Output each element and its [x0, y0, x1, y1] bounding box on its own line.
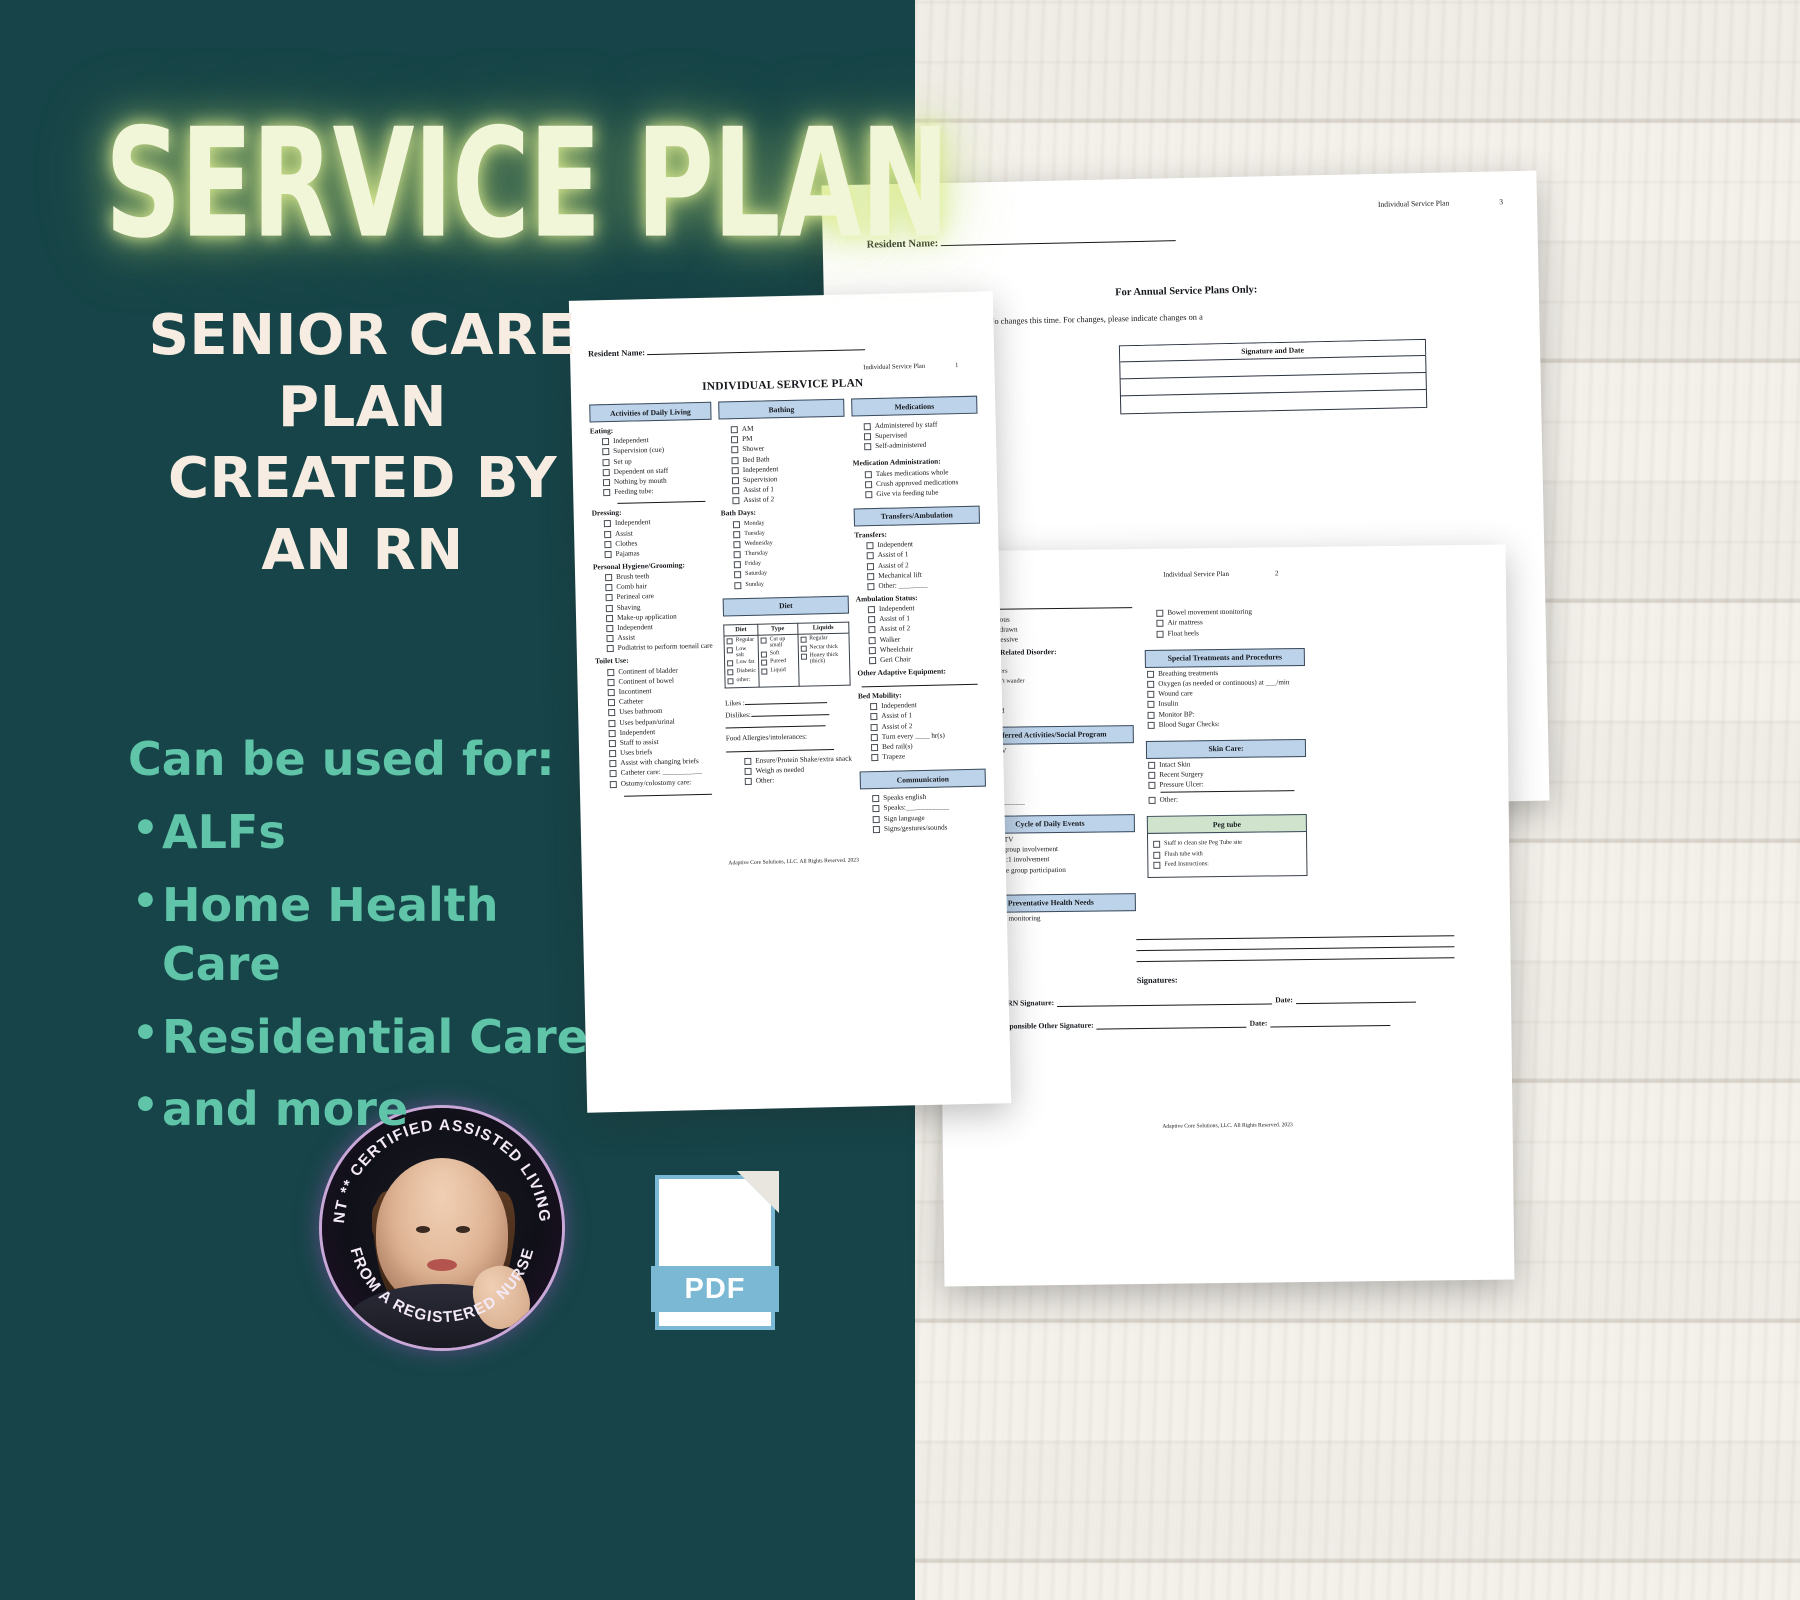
list-item[interactable]: Recent Surgery	[1146, 769, 1306, 779]
list-item-label: Breathing treatments	[1158, 669, 1218, 678]
date-label: Date:	[1250, 1018, 1268, 1027]
checkbox[interactable]	[606, 635, 613, 642]
list-item[interactable]: Blood Sugar Checks:	[1146, 719, 1306, 729]
list-item[interactable]: Wound care	[1145, 688, 1305, 698]
checkbox[interactable]	[867, 573, 874, 580]
list-item[interactable]: Other:	[1147, 794, 1307, 804]
list-item-label: Air mattress	[1167, 619, 1202, 627]
list-item[interactable]: Low fat	[727, 659, 756, 667]
checkbox[interactable]	[734, 561, 741, 568]
list-item[interactable]: Bed Bath	[719, 453, 845, 464]
list-item[interactable]: Walker	[857, 633, 983, 644]
list-item-label: Independent	[879, 604, 915, 613]
checkbox[interactable]	[868, 606, 875, 613]
checkbox[interactable]	[727, 669, 733, 675]
adaptive-equipment-label: Other Adaptive Equipment:	[857, 666, 983, 678]
list-item[interactable]: Assist of 2	[720, 494, 846, 505]
list-item-label: Continent of bladder	[618, 666, 678, 675]
checkbox[interactable]	[606, 594, 613, 601]
checkbox[interactable]	[761, 660, 767, 666]
checkbox[interactable]	[868, 626, 875, 633]
use-cases-block: Can be used for: ALFs Home Health Care R…	[128, 730, 628, 1139]
checkbox[interactable]	[608, 709, 615, 716]
list-item[interactable]: Other:	[727, 775, 853, 786]
use-cases-heading: Can be used for:	[128, 730, 628, 789]
checkbox[interactable]	[731, 426, 738, 433]
list-item[interactable]: Other: ________	[855, 580, 981, 591]
list-item[interactable]: Bed rail(s)	[859, 741, 985, 752]
list-item[interactable]: Independent	[594, 622, 716, 633]
list-item-label: other:	[736, 676, 750, 682]
list-item[interactable]: Mechanical lift	[855, 569, 981, 580]
badge-ring-text: ** CONSULTANT ** CERTIFIED ASSISTED LIVI…	[322, 1108, 562, 1348]
list-item-label: Thursday	[745, 550, 769, 558]
subtitle-line-2: PLAN	[90, 372, 635, 444]
list-item-label: Independent	[881, 701, 917, 710]
checkbox[interactable]	[1147, 701, 1154, 708]
checkbox[interactable]	[867, 552, 874, 559]
ambulation-label: Ambulation Status:	[856, 592, 982, 604]
list-item-label: Uses bathroom	[619, 707, 662, 716]
checkbox[interactable]	[1153, 851, 1160, 858]
list-item[interactable]: Diabetic	[727, 668, 756, 676]
food-allergies-input[interactable]	[726, 749, 834, 752]
list-item[interactable]: Self-administered	[852, 440, 978, 451]
checkbox[interactable]	[873, 815, 880, 822]
list-item[interactable]: Uses bedpan/urinal	[596, 716, 718, 727]
list-item-label: Self-administered	[875, 441, 926, 450]
list-item-label: Assist with changing briefs	[620, 757, 699, 767]
list-item-label: Crush approved medications	[876, 478, 958, 488]
list-item[interactable]: Perineal care	[593, 591, 715, 602]
list-item[interactable]: Honey thick (thick)	[801, 652, 848, 665]
list-item-label: Perineal care	[616, 592, 653, 601]
list-item[interactable]: Independent	[856, 603, 982, 614]
checkbox[interactable]	[800, 645, 806, 651]
checkbox[interactable]	[606, 625, 613, 632]
page3-page-number: 3	[1499, 197, 1503, 206]
checkbox[interactable]	[867, 583, 874, 590]
page3-header-label: Individual Service Plan	[1378, 198, 1449, 208]
checkbox[interactable]	[864, 423, 871, 430]
checkbox[interactable]	[727, 678, 733, 684]
checkbox[interactable]	[801, 654, 807, 660]
list-item[interactable]: Uses bathroom	[596, 706, 718, 717]
list-item-label: Continent of bowel	[618, 676, 674, 685]
checkbox[interactable]	[745, 778, 752, 785]
list-item-label: Diabetic	[736, 668, 756, 674]
list-item[interactable]: Friday	[722, 558, 848, 569]
column-medications: Medications Administered by staff Superv…	[851, 396, 987, 833]
list-item-label: Assist of 1	[879, 615, 910, 624]
date-label: Date:	[1275, 995, 1293, 1004]
section-header-transfers: Transfers/Ambulation	[854, 506, 980, 527]
column-bathing-diet: Bathing AM PM Shower Bed Bath Independen…	[718, 399, 854, 836]
checkbox[interactable]	[1148, 782, 1155, 789]
subtitle-line-3: CREATED BY	[90, 443, 635, 515]
list-item-label: Weigh as needed	[756, 765, 805, 774]
checkbox[interactable]	[732, 497, 739, 504]
checkbox[interactable]	[734, 551, 741, 558]
list-item-label: Flush tube with	[1164, 850, 1203, 857]
use-case-item: Residential Care	[128, 1008, 628, 1067]
list-item-label: Assist of 2	[878, 561, 909, 570]
page2-header-label: Individual Service Plan	[1163, 570, 1229, 579]
list-item-label: Speaks english	[883, 793, 926, 802]
page2-page-number: 2	[1275, 569, 1279, 577]
checkbox[interactable]	[870, 703, 877, 710]
signatures-label: Signatures:	[967, 972, 1485, 987]
list-item-label: Turn every ____ hr(s)	[882, 731, 945, 740]
list-item[interactable]: Speaks:____________	[860, 802, 986, 813]
list-item-label: Wednesday	[744, 539, 773, 547]
checkbox[interactable]	[1147, 681, 1154, 688]
list-item[interactable]: AM	[719, 423, 845, 434]
list-item[interactable]: Sign language	[861, 812, 987, 823]
list-item[interactable]: Supervised	[852, 430, 978, 441]
checkbox[interactable]	[872, 805, 879, 812]
section-header-bathing: Bathing	[718, 399, 844, 420]
table-row: Regular Low salt Low fat Diabetic other:…	[724, 633, 850, 688]
checkbox[interactable]	[865, 491, 872, 498]
list-item[interactable]: Flush tube with	[1151, 849, 1303, 859]
ostomy-blank-line[interactable]	[624, 793, 712, 796]
checkbox[interactable]	[607, 645, 614, 652]
checkbox[interactable]	[606, 605, 613, 612]
list-item-label: Catheter care: ___________	[620, 767, 702, 777]
section-header-special: Special Treatments and Procedures	[1145, 648, 1305, 668]
subtitle-line-1: SENIOR CARE	[90, 300, 635, 372]
list-item[interactable]: Assist of 2	[856, 623, 982, 634]
checkbox[interactable]	[727, 638, 733, 644]
resident-date-blank[interactable]	[1270, 1018, 1390, 1027]
list-item[interactable]: Turn every ____ hr(s)	[859, 730, 985, 741]
checkbox[interactable]	[745, 768, 752, 775]
list-item-label: Shaving	[617, 603, 641, 612]
checkbox[interactable]	[732, 477, 739, 484]
list-item[interactable]: Pressure Ulcer:	[1146, 779, 1306, 789]
list-item[interactable]: Cut up small	[761, 636, 796, 649]
adaptive-equipment-input[interactable]	[862, 684, 978, 688]
checkbox[interactable]	[871, 724, 878, 731]
list-item-label: Low fat	[736, 659, 754, 665]
section-header-communication: Communication	[860, 769, 986, 790]
list-item[interactable]: Feed Instructions:	[1151, 859, 1303, 869]
list-item[interactable]: Independent	[720, 463, 846, 474]
list-item[interactable]: Monday	[721, 517, 847, 528]
list-item[interactable]: Low salt	[727, 645, 756, 658]
checkbox[interactable]	[608, 719, 615, 726]
list-item[interactable]: Speaks english	[860, 792, 986, 803]
list-item-label: Shower	[742, 445, 764, 453]
list-item[interactable]: Geri Chair	[857, 654, 983, 665]
list-item-label: Cut up small	[770, 636, 796, 649]
checkbox[interactable]	[1149, 797, 1156, 804]
svg-text:FROM A REGISTERED NURSE: FROM A REGISTERED NURSE	[346, 1246, 537, 1326]
list-item-label: Other:	[756, 776, 775, 784]
diet-col-header: Type	[758, 623, 798, 635]
list-item-label: Make-up application	[617, 612, 677, 621]
checkbox[interactable]	[733, 521, 740, 528]
list-item-label: Monday	[744, 519, 765, 526]
list-item[interactable]: Give via feeding tube	[853, 488, 979, 499]
checkbox[interactable]	[869, 647, 876, 654]
list-item-label: Insulin	[1158, 700, 1178, 708]
list-item-label: Sunday	[745, 580, 764, 587]
checkbox[interactable]	[761, 651, 767, 657]
checkbox[interactable]	[1148, 772, 1155, 779]
list-item-label: Liquid	[770, 667, 786, 673]
list-item-label: Walker	[880, 635, 901, 643]
page3-resident-name-row: Resident Name:	[867, 226, 1504, 250]
page1-footer: Adaptive Core Solutions, LLC. All Rights…	[600, 854, 988, 869]
list-item[interactable]: Oxygen (as needed or continuous) at ___/…	[1145, 678, 1305, 688]
list-item[interactable]: Independent	[858, 700, 984, 711]
manager-signature-blank[interactable]	[1057, 996, 1272, 1007]
list-item[interactable]: Liquid	[761, 667, 796, 675]
list-item-label: Incontinent	[619, 687, 652, 696]
checkbox[interactable]	[871, 754, 878, 761]
likes-label: Likes :	[725, 699, 745, 707]
list-item-label: Catheter	[619, 697, 644, 706]
list-item[interactable]: Saturday	[722, 568, 848, 579]
list-item-label: Takes medications whole	[876, 468, 949, 478]
list-item-label: Regular	[736, 637, 754, 643]
section-header-medications: Medications	[851, 396, 977, 417]
bath-days-label: Bath Days:	[721, 506, 847, 518]
checkbox[interactable]	[1156, 620, 1163, 627]
list-item-label: Uses bedpan/urinal	[619, 717, 674, 726]
list-item-label: Honey thick (thick)	[810, 652, 848, 665]
list-item[interactable]: Monitor BP:	[1145, 709, 1305, 719]
checkbox[interactable]	[1148, 722, 1155, 729]
pdf-file-icon[interactable]: PDF	[655, 1175, 775, 1330]
checkbox[interactable]	[727, 647, 733, 653]
list-item-label: Supervision	[743, 475, 778, 484]
list-item-label: Staff to clean site Peg Tube site	[1164, 839, 1242, 847]
list-item[interactable]: Podiatrist to perform toenail care	[595, 642, 717, 653]
list-item[interactable]: Assist of 1	[856, 613, 982, 624]
checkbox[interactable]	[1153, 862, 1160, 869]
list-item-label: Podiatrist to perform toenail care	[618, 642, 713, 652]
list-item[interactable]: Regular	[727, 637, 756, 645]
checkbox[interactable]	[866, 542, 873, 549]
list-item-label: Speaks:____________	[883, 803, 949, 812]
checkbox[interactable]	[869, 637, 876, 644]
list-item-label: Give via feeding tube	[876, 489, 938, 498]
list-item-label: Bed rail(s)	[882, 742, 913, 751]
list-item[interactable]: Assist of 2	[855, 559, 981, 570]
list-item-label: Independent	[743, 465, 779, 474]
list-item-label: Ensure/Protein Shake/extra snack	[755, 754, 852, 764]
list-item-label: Trapeze	[882, 753, 905, 762]
list-item-label: Assist	[617, 634, 635, 642]
list-item-label: Other: ________	[878, 581, 927, 590]
checkbox[interactable]	[607, 679, 614, 686]
manager-date-blank[interactable]	[1296, 995, 1416, 1004]
list-item-label: Low salt	[736, 645, 756, 657]
likes-input[interactable]	[745, 695, 827, 705]
list-item[interactable]: Crush approved medications	[853, 477, 979, 488]
list-item[interactable]: Bowel movement monitoring	[1144, 607, 1304, 617]
list-item-label: Pressure Ulcer:	[1159, 781, 1203, 790]
list-item-label: Assist of 1	[878, 551, 909, 560]
checkbox[interactable]	[608, 689, 615, 696]
list-item[interactable]: Shaving	[594, 601, 716, 612]
section-header-pegtube: Peg tube	[1147, 814, 1307, 834]
list-item-label: Nectar thick	[809, 644, 838, 651]
list-item[interactable]: Supervision	[720, 474, 846, 485]
list-item[interactable]: Tuesday	[721, 527, 847, 538]
list-item[interactable]: Thursday	[722, 548, 848, 559]
list-item-label: Oxygen (as needed or continuous) at ___/…	[1158, 678, 1289, 688]
list-item[interactable]: Administered by staff	[852, 420, 978, 431]
list-item[interactable]: Trapeze	[859, 751, 985, 762]
checkbox[interactable]	[873, 826, 880, 833]
use-case-item: ALFs	[128, 803, 628, 862]
list-item-label: Tuesday	[744, 529, 765, 536]
transfers-label: Transfers:	[854, 528, 980, 540]
checkbox[interactable]	[608, 699, 615, 706]
checkbox[interactable]	[1153, 841, 1160, 848]
list-item[interactable]: Sunday	[722, 578, 848, 589]
resident-name-input[interactable]	[647, 342, 865, 355]
list-item[interactable]: Continent of bowel	[595, 675, 717, 686]
checkbox[interactable]	[727, 661, 733, 667]
checkbox[interactable]	[868, 616, 875, 623]
list-item-label: Feed Instructions:	[1164, 860, 1209, 868]
checkbox[interactable]	[871, 734, 878, 741]
checkbox[interactable]	[733, 531, 740, 538]
checkbox[interactable]	[744, 757, 751, 764]
checkbox[interactable]	[864, 443, 871, 450]
list-item[interactable]: Continent of bladder	[595, 665, 717, 676]
list-item[interactable]: Incontinent	[596, 686, 718, 697]
checkbox[interactable]	[867, 563, 874, 570]
list-item[interactable]: other:	[727, 676, 756, 684]
list-item-label: Assist of 1	[743, 485, 774, 494]
list-item[interactable]: Pureed	[761, 658, 796, 666]
list-item[interactable]: Assist of 1	[720, 484, 846, 495]
list-item[interactable]: Assist of 1	[855, 549, 981, 560]
list-item[interactable]: Wednesday	[721, 538, 847, 549]
list-item-label: Friday	[745, 560, 761, 567]
document-page-2: Individual Service Plan 2 Anxious Withdr…	[936, 545, 1515, 1287]
list-item-label: AM	[742, 425, 754, 433]
promo-subtitle: SENIOR CARE PLAN CREATED BY AN RN	[90, 300, 635, 587]
nurse-credential-badge: ** CONSULTANT ** CERTIFIED ASSISTED LIVI…	[322, 1108, 562, 1348]
checkbox[interactable]	[871, 744, 878, 751]
list-item-label: PM	[742, 435, 753, 443]
checkbox[interactable]	[607, 669, 614, 676]
dislikes-input[interactable]	[751, 707, 829, 717]
list-item[interactable]: Soft	[761, 650, 796, 658]
checkbox[interactable]	[869, 657, 876, 664]
use-case-item: Home Health Care	[128, 876, 628, 994]
checkbox[interactable]	[734, 582, 741, 589]
list-item[interactable]: Assist of 1	[858, 710, 984, 721]
checkbox[interactable]	[865, 471, 872, 478]
promo-panel-foot	[0, 1385, 915, 1600]
checkbox[interactable]	[1148, 762, 1155, 769]
list-item[interactable]: Assist of 2	[859, 720, 985, 731]
page3-resident-name-blank[interactable]	[941, 233, 1176, 246]
checkbox[interactable]	[732, 487, 739, 494]
list-item-label: Blood Sugar Checks:	[1159, 720, 1220, 729]
checkbox[interactable]	[731, 436, 738, 443]
list-item-label: Assist of 2	[882, 722, 913, 731]
list-item-label: Ostomy/colostomy care:	[621, 778, 692, 788]
checkbox[interactable]	[606, 615, 613, 622]
list-item-label: Assist of 1	[881, 712, 912, 721]
page3-signature-table: Signature and Date	[1119, 339, 1427, 414]
checkbox[interactable]	[800, 637, 806, 643]
checkbox[interactable]	[865, 481, 872, 488]
list-item-label: Supervised	[875, 431, 907, 440]
list-item[interactable]: Breathing treatments	[1145, 668, 1305, 678]
list-item[interactable]: Wheelchair	[857, 643, 983, 654]
page2-footer: Adaptive Core Solutions, LLC. All Rights…	[969, 1120, 1487, 1132]
list-item[interactable]: Staff to clean site Peg Tube site	[1151, 838, 1303, 848]
resident-signature-blank[interactable]	[1097, 1020, 1247, 1030]
list-item[interactable]: Intact Skin	[1146, 759, 1306, 769]
checkbox[interactable]	[1148, 711, 1155, 718]
list-item[interactable]: PM	[719, 433, 845, 444]
checkbox[interactable]	[1157, 630, 1164, 637]
list-item-label: Saturday	[745, 570, 767, 577]
list-item-label: Regular	[809, 635, 827, 641]
checkbox[interactable]	[1147, 671, 1154, 678]
list-item-label: Bed Bath	[742, 455, 769, 464]
checkbox[interactable]	[872, 795, 879, 802]
list-item[interactable]: Air mattress	[1144, 617, 1304, 627]
bed-mobility-label: Bed Mobility:	[858, 689, 984, 701]
checkbox[interactable]	[733, 541, 740, 548]
checkbox[interactable]	[732, 467, 739, 474]
list-item[interactable]: Assist	[594, 632, 716, 643]
list-item[interactable]: Independent	[854, 539, 980, 550]
list-item[interactable]: Catheter	[596, 696, 718, 707]
checkbox[interactable]	[870, 713, 877, 720]
list-item[interactable]: Regular	[800, 635, 847, 643]
checkbox[interactable]	[731, 457, 738, 464]
checkbox[interactable]	[761, 638, 767, 644]
list-item[interactable]: Ensure/Protein Shake/extra snack	[726, 754, 852, 765]
list-item[interactable]: Weigh as needed	[727, 764, 853, 775]
list-item[interactable]: Make-up application	[594, 611, 716, 622]
checkbox[interactable]	[864, 433, 871, 440]
list-item-label: Bowel movement monitoring	[1167, 608, 1252, 617]
checkbox[interactable]	[1156, 610, 1163, 617]
list-item[interactable]: Shower	[719, 443, 845, 454]
list-item-label: Intact Skin	[1159, 760, 1190, 768]
group-label-toilet: Toilet Use:	[595, 654, 717, 666]
list-item-label: Signs/gestures/sounds	[884, 823, 948, 832]
checkbox[interactable]	[761, 668, 767, 674]
list-item-label: Geri Chair	[880, 655, 911, 664]
checkbox[interactable]	[734, 572, 741, 579]
list-item[interactable]: Nectar thick	[800, 643, 847, 651]
list-item[interactable]: Float heels	[1145, 628, 1305, 638]
checkbox[interactable]	[1147, 691, 1154, 698]
pegtube-box: Staff to clean site Peg Tube site Flush …	[1147, 832, 1308, 878]
list-item[interactable]: Signs/gestures/sounds	[861, 822, 987, 833]
diet-col-header: Diet	[724, 624, 758, 636]
list-item[interactable]: Takes medications whole	[853, 467, 979, 478]
list-item[interactable]: Insulin	[1145, 698, 1305, 708]
dislikes-label: Dislikes:	[725, 710, 751, 719]
checkbox[interactable]	[731, 446, 738, 453]
